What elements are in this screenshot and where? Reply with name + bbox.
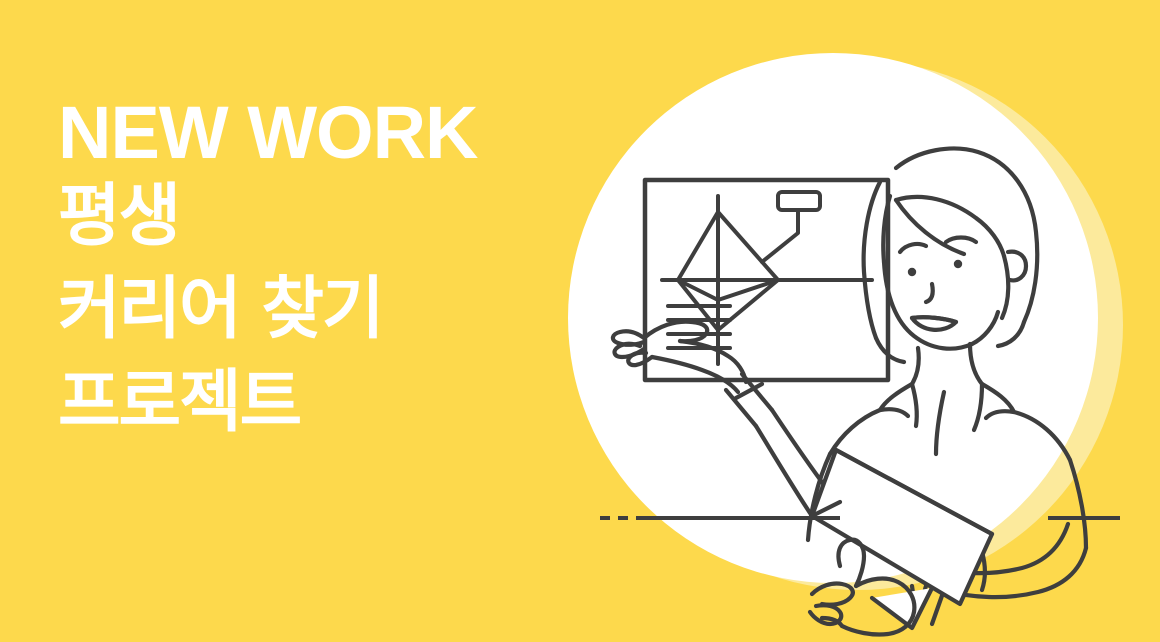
promo-banner: NEW WORK 평생 커리어 찾기 프로젝트: [0, 0, 1160, 642]
headline-korean-line-1: 평생: [58, 176, 578, 259]
chart-label-pin: [778, 192, 820, 210]
illustration-area: [540, 0, 1160, 642]
eye-left: [908, 268, 916, 276]
headline-block: NEW WORK 평생 커리어 찾기 프로젝트: [58, 96, 578, 445]
headline-korean-line-2: 커리어 찾기: [58, 269, 578, 352]
eye-right: [954, 260, 962, 268]
headline-english: NEW WORK: [58, 96, 578, 170]
headline-korean-line-3: 프로젝트: [58, 362, 578, 445]
floating-chart-panel: [645, 180, 888, 380]
illustration-svg: [540, 0, 1160, 642]
